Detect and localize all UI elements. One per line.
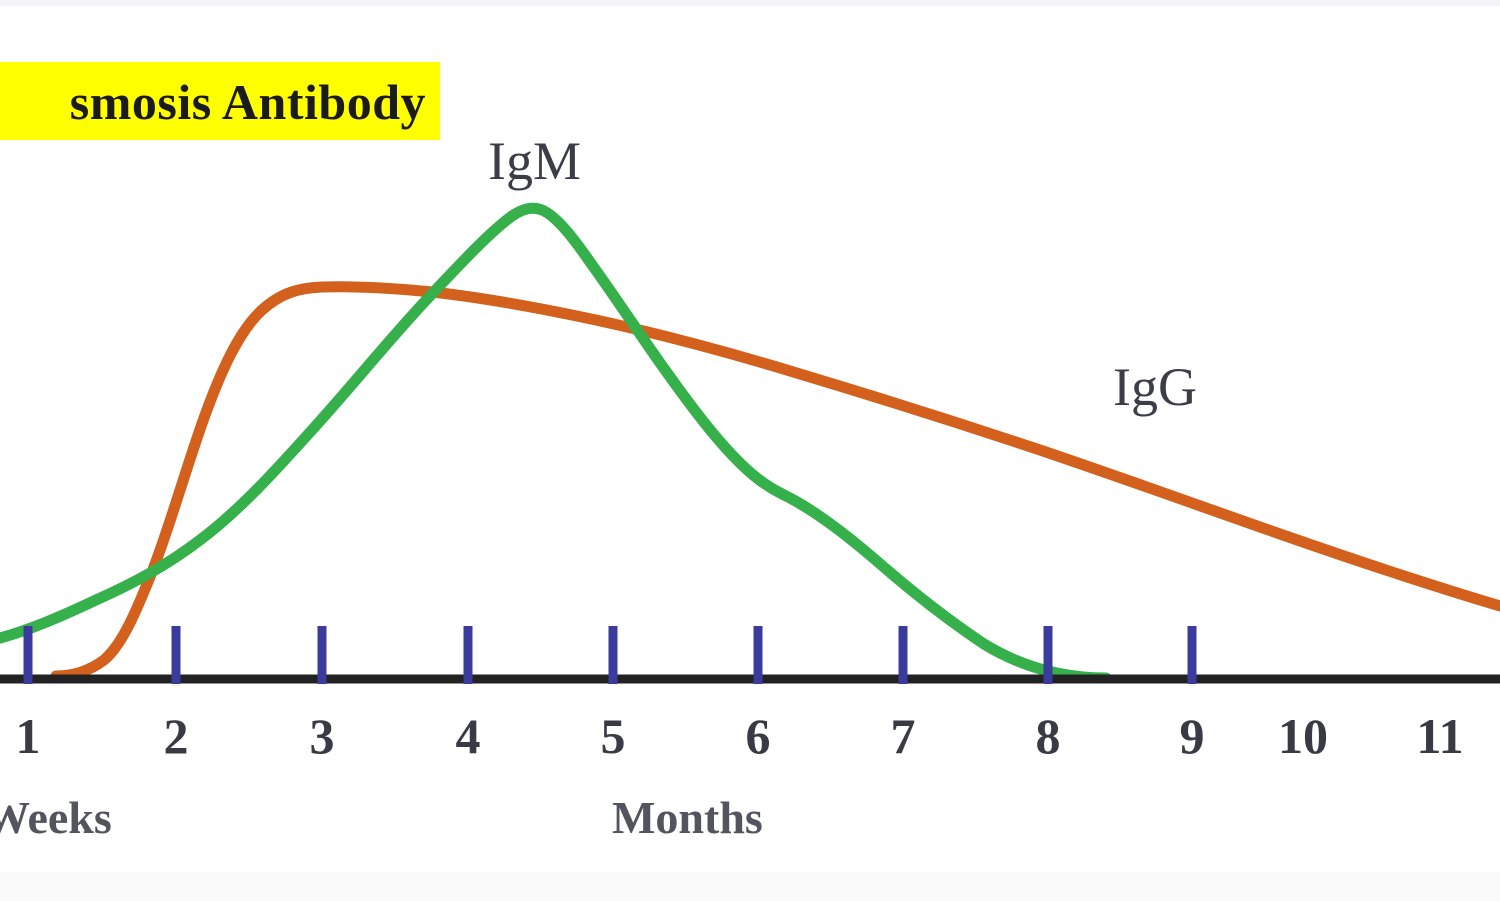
x-axis-caption-weeks: Weeks	[0, 790, 112, 846]
x-axis-caption-months: Months	[612, 790, 763, 846]
tick-label-3: 3	[287, 706, 357, 766]
igm-curve	[0, 208, 1106, 678]
igg-series-label: IgG	[1113, 358, 1197, 416]
igm-series-label: IgM	[488, 132, 581, 190]
tick-label-11: 11	[1405, 706, 1475, 766]
tick-label-7: 7	[868, 706, 938, 766]
tick-label-6: 6	[723, 706, 793, 766]
tick-label-4: 4	[433, 706, 503, 766]
tick-label-1: 1	[0, 706, 63, 766]
chart-canvas: smosis Antibody 1 2 3 4 5 6 7 8 9 10 11 …	[0, 0, 1500, 901]
tick-label-10: 10	[1268, 706, 1338, 766]
tick-label-5: 5	[578, 706, 648, 766]
tick-label-2: 2	[141, 706, 211, 766]
tick-label-9: 9	[1157, 706, 1227, 766]
tick-label-8: 8	[1013, 706, 1083, 766]
igg-curve	[56, 287, 1500, 676]
